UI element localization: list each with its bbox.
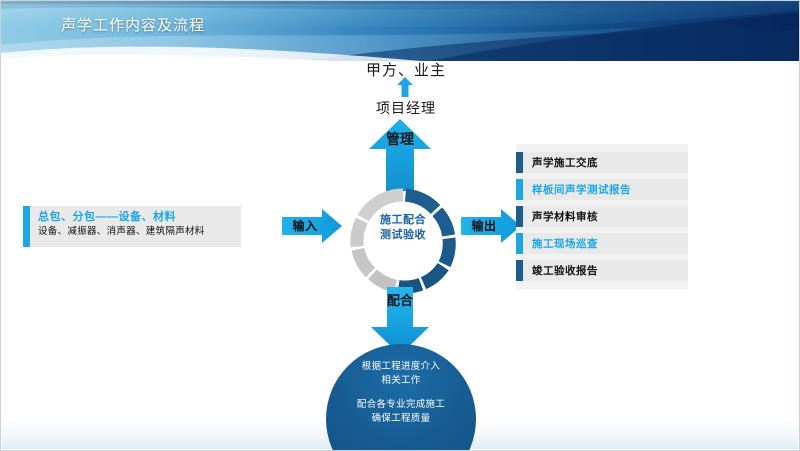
input-box-subtitle: 设备、减振器、消声器、建筑隔声材料 — [38, 225, 241, 239]
ring-segment-gray-3 — [358, 249, 371, 272]
output-item-4-label: 施工现场巡查 — [523, 236, 598, 251]
output-deliverables-panel: 声学施工交底 样板间声学测试报告 声学材料审核 施工现场巡查 竣工验收报告 — [516, 144, 688, 289]
input-accent-bar — [23, 206, 30, 247]
cooperation-detail-text: 根据工程进度介入 相关工作 配合各专业完成施工 确保工程质量 — [326, 360, 476, 426]
circle-line-4: 确保工程质量 — [326, 412, 476, 426]
output-item-2-bar — [516, 179, 523, 200]
output-item-4-bar — [516, 233, 523, 254]
header-banner: 声学工作内容及流程 — [1, 1, 800, 61]
ring-center-line2: 测试验收 — [345, 228, 461, 243]
circle-line-2: 相关工作 — [326, 374, 476, 388]
output-item-4[interactable]: 施工现场巡查 — [516, 233, 688, 254]
output-item-1-bar — [516, 152, 523, 173]
output-item-5-label: 竣工验收报告 — [523, 263, 598, 278]
ring-center-line1: 施工配合 — [345, 213, 461, 228]
input-arrow-label: 输入 — [282, 217, 328, 234]
cooperation-arrow-label: 配合 — [371, 293, 429, 309]
circle-line-1: 根据工程进度介入 — [326, 360, 476, 374]
page-title: 声学工作内容及流程 — [61, 14, 205, 35]
circle-text-spacer — [326, 388, 476, 398]
input-source-box[interactable]: 总包、分包——设备、材料 设备、减振器、消声器、建筑隔声材料 — [23, 206, 241, 247]
output-item-3-label: 声学材料审核 — [523, 209, 598, 224]
slide-canvas: 声学工作内容及流程 甲方、业主 项目经理 管理 — [0, 0, 800, 451]
output-item-1[interactable]: 声学施工交底 — [516, 152, 688, 173]
output-item-1-label: 声学施工交底 — [523, 155, 598, 170]
output-item-3-bar — [516, 206, 523, 227]
manage-up-arrow-icon — [369, 119, 431, 191]
output-item-2[interactable]: 样板间声学测试报告 — [516, 179, 688, 200]
input-box-title: 总包、分包——设备、材料 — [38, 210, 241, 225]
ring-segment-blue-4 — [424, 267, 444, 284]
output-item-3[interactable]: 声学材料审核 — [516, 206, 688, 227]
output-item-5[interactable]: 竣工验收报告 — [516, 260, 688, 281]
up-arrow-icon — [397, 77, 413, 97]
project-manager-label: 项目经理 — [346, 98, 466, 118]
ring-segment-blue-1 — [406, 195, 436, 209]
output-arrow-label: 输出 — [461, 217, 507, 234]
manage-arrow-label: 管理 — [369, 131, 431, 148]
ring-segment-gray-4 — [373, 274, 396, 286]
output-item-2-label: 样板间声学测试报告 — [523, 182, 631, 197]
input-text-group: 总包、分包——设备、材料 设备、减振器、消声器、建筑隔声材料 — [30, 206, 241, 247]
output-item-5-bar — [516, 260, 523, 281]
ring-center-label: 施工配合 测试验收 — [345, 213, 461, 243]
circle-line-3: 配合各专业完成施工 — [326, 398, 476, 412]
